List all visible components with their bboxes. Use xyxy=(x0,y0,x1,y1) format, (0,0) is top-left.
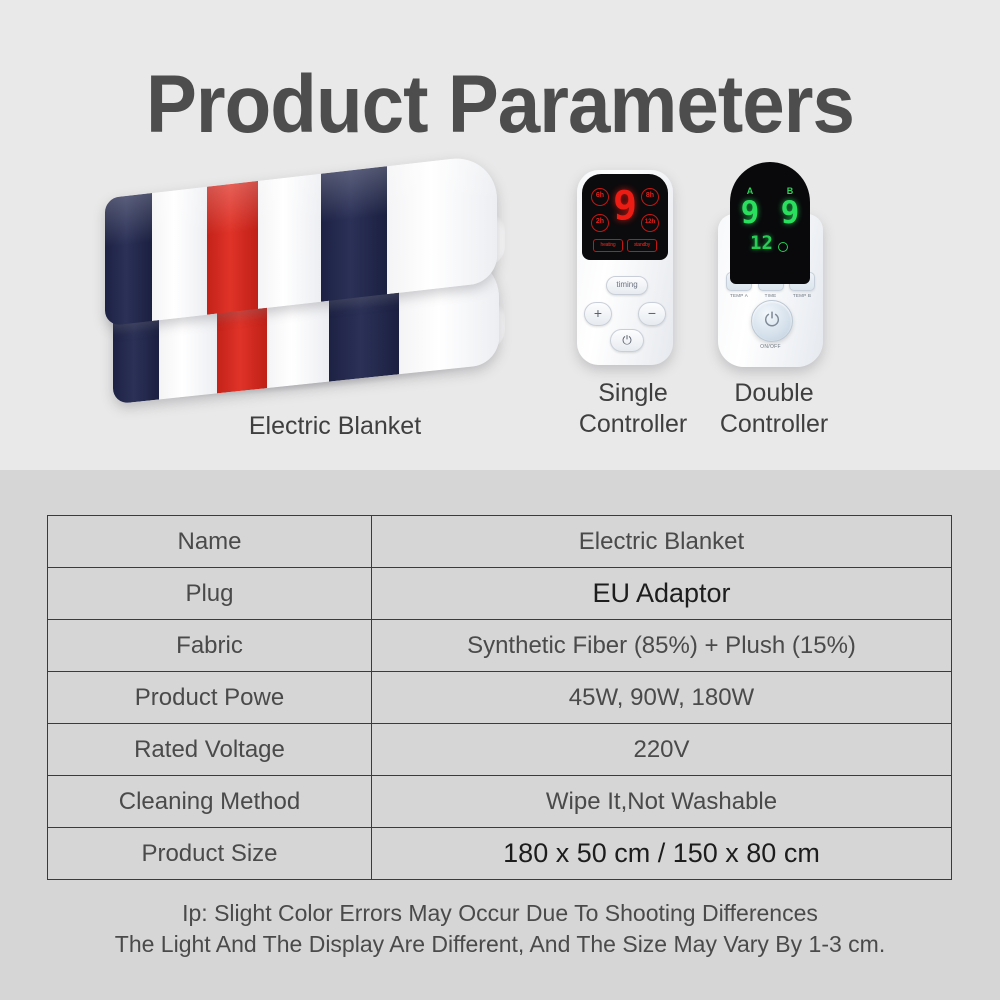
spec-key: Cleaning Method xyxy=(48,776,372,828)
caption-double-controller: Double Controller xyxy=(700,378,848,440)
spec-key: Name xyxy=(48,516,372,568)
zone-b-digit: 9 xyxy=(781,196,800,230)
timer-label-12h: 12h xyxy=(641,214,659,232)
spec-value: Electric Blanket xyxy=(372,516,952,568)
single-controller-image: 9 6h 8h 2h 12h heating standby timing + … xyxy=(577,170,673,365)
spec-key: Fabric xyxy=(48,620,372,672)
on-off-label: ON/OFF xyxy=(718,344,823,350)
table-row: Fabric Synthetic Fiber (85%) + Plush (15… xyxy=(48,620,952,672)
stripe-red xyxy=(207,181,258,315)
caption-single-line1: Single xyxy=(560,378,706,409)
single-controller-display: 9 6h 8h 2h 12h heating standby xyxy=(582,174,668,260)
spec-key: Rated Voltage xyxy=(48,724,372,776)
table-row: Product Size 180 x 50 cm / 150 x 80 cm xyxy=(48,828,952,880)
caption-single-line2: Controller xyxy=(560,409,706,440)
zone-a-digit: 9 xyxy=(741,196,760,230)
stripe-navy xyxy=(105,193,152,326)
caption-electric-blanket: Electric Blanket xyxy=(140,412,530,441)
table-row: Product Powe 45W, 90W, 180W xyxy=(48,672,952,724)
spec-key: Product Powe xyxy=(48,672,372,724)
stripe-white xyxy=(258,174,321,309)
spec-value: Synthetic Fiber (85%) + Plush (15%) xyxy=(372,620,952,672)
timing-button[interactable]: timing xyxy=(606,276,648,295)
specification-table-body: Name Electric Blanket Plug EU Adaptor Fa… xyxy=(48,516,952,880)
double-controller-display: A B 9 9 12 xyxy=(730,162,810,284)
folded-blanket-stack xyxy=(95,168,525,398)
specification-table: Name Electric Blanket Plug EU Adaptor Fa… xyxy=(47,515,952,880)
disclaimer-note: Ip: Slight Color Errors May Occur Due To… xyxy=(0,898,1000,960)
spec-value: 45W, 90W, 180W xyxy=(372,672,952,724)
spec-value: Wipe It,Not Washable xyxy=(372,776,952,828)
timer-value: 12 xyxy=(750,232,773,254)
disclaimer-line-2: The Light And The Display Are Different,… xyxy=(0,929,1000,960)
status-tag-standby: standby xyxy=(627,239,657,252)
disclaimer-line-1: Ip: Slight Color Errors May Occur Due To… xyxy=(0,898,1000,929)
stripe-white xyxy=(152,187,207,321)
stripe-navy xyxy=(321,166,388,302)
double-controller-image: TEMP A TIME TEMP B ⏻ ON/OFF A xyxy=(718,162,823,367)
table-row: Plug EU Adaptor xyxy=(48,568,952,620)
table-row: Name Electric Blanket xyxy=(48,516,952,568)
caption-double-line1: Double xyxy=(700,378,848,409)
temp-a-label: TEMP A xyxy=(726,293,752,298)
table-row: Rated Voltage 220V xyxy=(48,724,952,776)
spec-value: 220V xyxy=(372,724,952,776)
decrease-button[interactable]: − xyxy=(638,302,666,326)
spec-key: Plug xyxy=(48,568,372,620)
time-label: TIME xyxy=(758,293,784,298)
spec-key: Product Size xyxy=(48,828,372,880)
product-parameters-page: Product Parameters xyxy=(0,0,1000,1000)
electric-blanket-image xyxy=(95,168,525,398)
power-icon[interactable]: ⏻ xyxy=(610,329,644,352)
page-title: Product Parameters xyxy=(35,58,965,152)
single-controller-keypad: timing + − ⏻ xyxy=(577,266,673,365)
status-tag-heating: heating xyxy=(593,239,623,252)
clock-icon xyxy=(778,242,788,252)
timer-label-2h: 2h xyxy=(591,214,609,232)
increase-button[interactable]: + xyxy=(584,302,612,326)
stripe-white xyxy=(387,154,497,295)
caption-single-controller: Single Controller xyxy=(560,378,706,440)
timer-label-6h: 6h xyxy=(591,188,609,206)
timer-label-8h: 8h xyxy=(641,188,659,206)
product-showcase: 9 6h 8h 2h 12h heating standby timing + … xyxy=(0,150,1000,450)
spec-value: EU Adaptor xyxy=(372,568,952,620)
caption-double-line2: Controller xyxy=(700,409,848,440)
zone-digits: 9 9 xyxy=(730,196,810,230)
table-row: Cleaning Method Wipe It,Not Washable xyxy=(48,776,952,828)
temp-b-label: TEMP B xyxy=(789,293,815,298)
power-icon[interactable]: ⏻ xyxy=(751,300,793,342)
spec-value: 180 x 50 cm / 150 x 80 cm xyxy=(372,828,952,880)
